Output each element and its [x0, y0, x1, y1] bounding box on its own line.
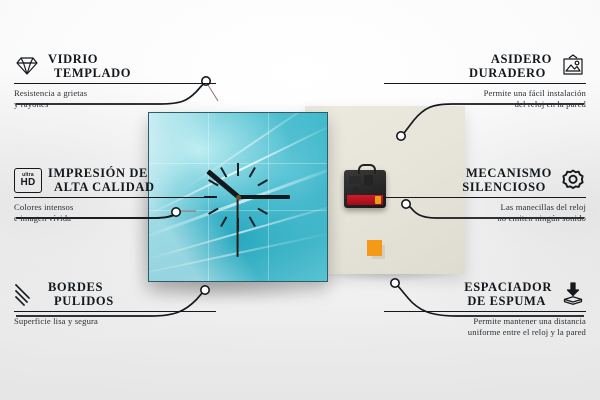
- feature-desc-line1: Permite una fácil instalación: [384, 88, 586, 99]
- foam-spacer: [367, 240, 382, 256]
- gear-icon: [560, 168, 586, 192]
- feature-title-line1: IMPRESIÓN DE: [48, 166, 148, 180]
- feature-mecanismo-silencioso[interactable]: MECANISMO SILENCIOSO Las manecillas del …: [384, 166, 586, 224]
- feature-title-line2: ALTA CALIDAD: [48, 180, 155, 194]
- feature-title-line2: SILENCIOSO: [462, 180, 552, 194]
- feature-desc-line1: Permite mantener una distancia: [384, 316, 586, 327]
- feature-title: ASIDERO DURADERO: [469, 52, 552, 80]
- minute-hand: [238, 195, 290, 199]
- feature-underline: [384, 197, 586, 198]
- hanging-frame-icon: [560, 54, 586, 78]
- feature-description: Permite mantener una distancia uniforme …: [384, 316, 586, 337]
- feature-title-row: MECANISMO SILENCIOSO: [384, 166, 586, 194]
- feature-description: Las manecillas del reloj no emiten ningú…: [384, 202, 586, 223]
- feature-title: MECANISMO SILENCIOSO: [462, 166, 552, 194]
- feature-title-line1: BORDES: [48, 280, 103, 294]
- feature-title: ESPACIADOR DE ESPUMA: [464, 280, 552, 308]
- feature-underline: [384, 83, 586, 84]
- feature-desc-line2: del reloj en la pared: [384, 99, 586, 110]
- feature-description: Resistencia a grietas y rayones: [14, 88, 216, 109]
- second-hand: [237, 197, 239, 257]
- feature-title-line2: TEMPLADO: [48, 66, 131, 80]
- diamond-icon: [14, 54, 40, 78]
- feature-underline: [14, 197, 216, 198]
- feature-title-row: BORDES PULIDOS: [14, 280, 216, 308]
- mechanism-detail: [351, 187, 360, 194]
- feature-title-line1: ESPACIADOR: [464, 280, 552, 294]
- feature-asidero-duradero[interactable]: ASIDERO DURADERO Permite una fácil insta…: [384, 52, 586, 110]
- feature-desc-line2: no emiten ningún sonido: [384, 213, 586, 224]
- feature-title: VIDRIO TEMPLADO: [48, 52, 131, 80]
- feature-desc-line1: Resistencia a grietas: [14, 88, 216, 99]
- feature-title-line1: MECANISMO: [466, 166, 552, 180]
- feature-title: BORDES PULIDOS: [48, 280, 114, 308]
- arrow-down-pad-icon: [560, 282, 586, 306]
- clock-center-pin: [236, 195, 241, 200]
- feature-desc-line2: y rayones: [14, 99, 216, 110]
- feature-underline: [384, 311, 586, 312]
- clock-mechanism: [344, 170, 386, 208]
- feature-description: Permite una fácil instalación del reloj …: [384, 88, 586, 109]
- mechanism-hanger-hook: [358, 164, 376, 174]
- battery-terminal: [375, 196, 381, 204]
- feature-title-line2: DURADERO: [469, 66, 552, 80]
- feature-title: IMPRESIÓN DE ALTA CALIDAD: [48, 166, 155, 194]
- feature-desc-line1: Superficie lisa y segura: [14, 316, 216, 327]
- feature-title-row: ESPACIADOR DE ESPUMA: [384, 280, 586, 308]
- mechanism-detail: [349, 176, 361, 184]
- feature-underline: [14, 311, 216, 312]
- ultra-hd-icon: ultra HD: [14, 168, 40, 192]
- feature-desc-line1: Colores intensos: [14, 202, 216, 213]
- feature-title-row: ASIDERO DURADERO: [384, 52, 586, 80]
- feature-impresion-alta-calidad[interactable]: ultra HD IMPRESIÓN DE ALTA CALIDAD Color…: [14, 166, 216, 224]
- feature-vidrio-templado[interactable]: VIDRIO TEMPLADO Resistencia a grietas y …: [14, 52, 216, 110]
- feature-title-line1: ASIDERO: [491, 52, 552, 66]
- feature-description: Superficie lisa y segura: [14, 316, 216, 327]
- ultra-hd-icon-main-text: HD: [20, 178, 35, 188]
- feature-title-line2: PULIDOS: [48, 294, 114, 308]
- feature-title-line1: VIDRIO: [48, 52, 98, 66]
- feature-description: Colores intensos e imagen vívida: [14, 202, 216, 223]
- feature-underline: [14, 83, 216, 84]
- infographic-canvas: VIDRIO TEMPLADO Resistencia a grietas y …: [0, 0, 600, 400]
- feature-title-row: VIDRIO TEMPLADO: [14, 52, 216, 80]
- feature-espaciador-de-espuma[interactable]: ESPACIADOR DE ESPUMA Permite mantener un…: [384, 280, 586, 338]
- feature-title-row: ultra HD IMPRESIÓN DE ALTA CALIDAD: [14, 166, 216, 194]
- feature-bordes-pulidos[interactable]: BORDES PULIDOS Superficie lisa y segura: [14, 280, 216, 327]
- polished-edges-icon: [14, 282, 40, 306]
- feature-desc-line2: e imagen vívida: [14, 213, 216, 224]
- mechanism-battery: [347, 195, 383, 205]
- feature-desc-line2: uniforme entre el reloj y la pared: [384, 327, 586, 338]
- feature-title-line2: DE ESPUMA: [464, 294, 552, 308]
- mechanism-detail: [364, 175, 373, 185]
- feature-desc-line1: Las manecillas del reloj: [384, 202, 586, 213]
